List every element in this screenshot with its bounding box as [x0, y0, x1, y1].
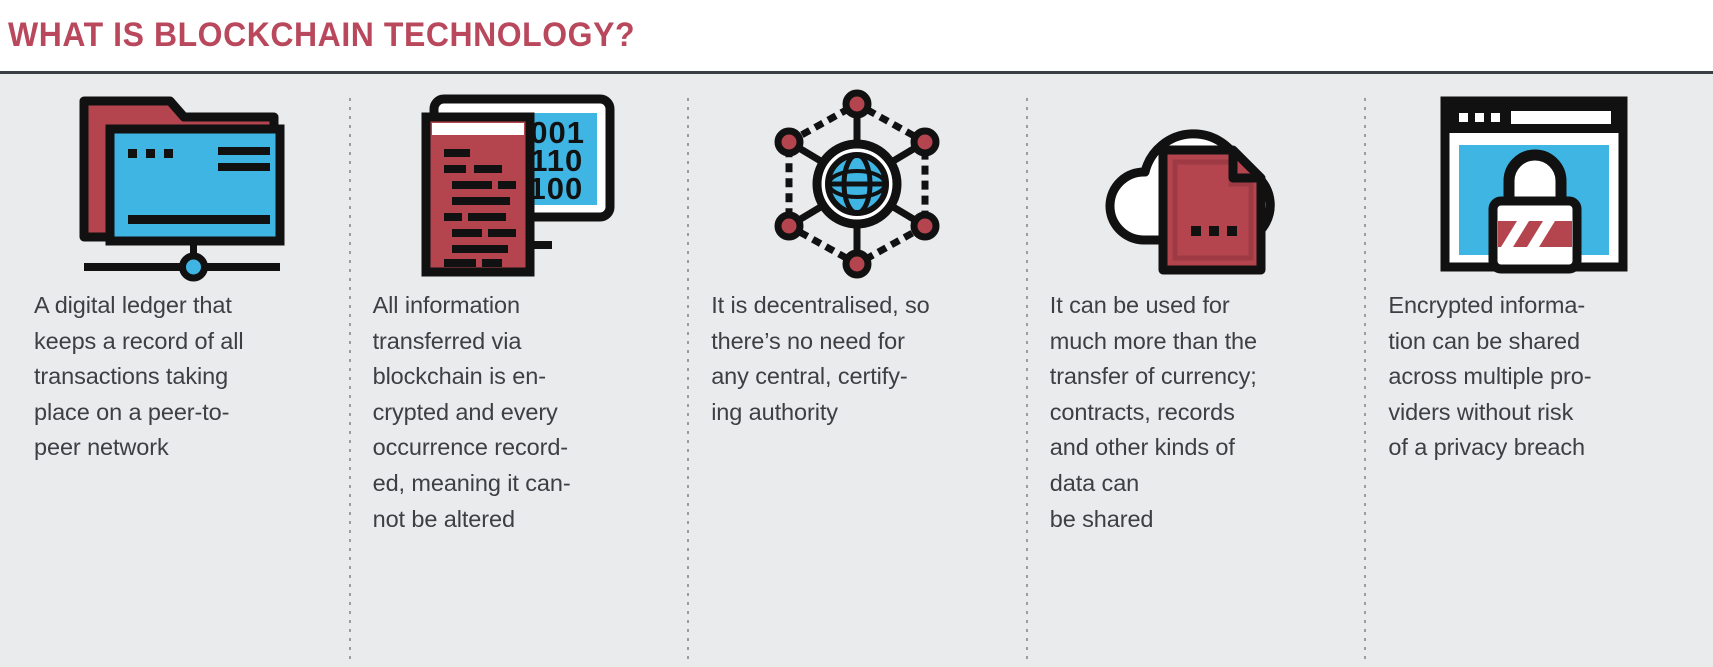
browser-padlock-icon — [1435, 89, 1635, 279]
icon-slot — [1388, 74, 1681, 288]
decentralised-globe-network-icon — [757, 88, 957, 280]
icon-slot — [1050, 74, 1343, 288]
column-more-than-currency: It can be used for much more than the tr… — [1026, 74, 1365, 667]
column-caption: It is decentralised, so there’s no need … — [711, 288, 1004, 430]
column-encrypted-information: 1001 0110 1100 — [349, 74, 688, 667]
columns-band: A digital ledger that keeps a record of … — [0, 74, 1713, 667]
binary-monitor-code-document-icon: 1001 0110 1100 — [414, 87, 624, 282]
column-caption: It can be used for much more than the tr… — [1050, 288, 1343, 537]
column-caption: A digital ledger that keeps a record of … — [34, 288, 327, 466]
infographic-page: WHAT IS BLOCKCHAIN TECHNOLOGY? — [0, 0, 1713, 667]
column-caption: All information transferred via blockcha… — [373, 288, 666, 537]
column-digital-ledger: A digital ledger that keeps a record of … — [10, 74, 349, 667]
icon-slot — [34, 74, 327, 288]
column-shared-securely: Encrypted informa- tion can be shared ac… — [1364, 74, 1703, 667]
cloud-document-icon — [1091, 88, 1301, 280]
icon-slot: 1001 0110 1100 — [373, 74, 666, 288]
folder-ledger-network-icon — [70, 87, 290, 282]
column-caption: Encrypted informa- tion can be shared ac… — [1388, 288, 1681, 466]
header: WHAT IS BLOCKCHAIN TECHNOLOGY? — [0, 0, 1713, 74]
page-title: WHAT IS BLOCKCHAIN TECHNOLOGY? — [8, 16, 635, 55]
icon-slot — [711, 74, 1004, 288]
column-decentralised: It is decentralised, so there’s no need … — [687, 74, 1026, 667]
